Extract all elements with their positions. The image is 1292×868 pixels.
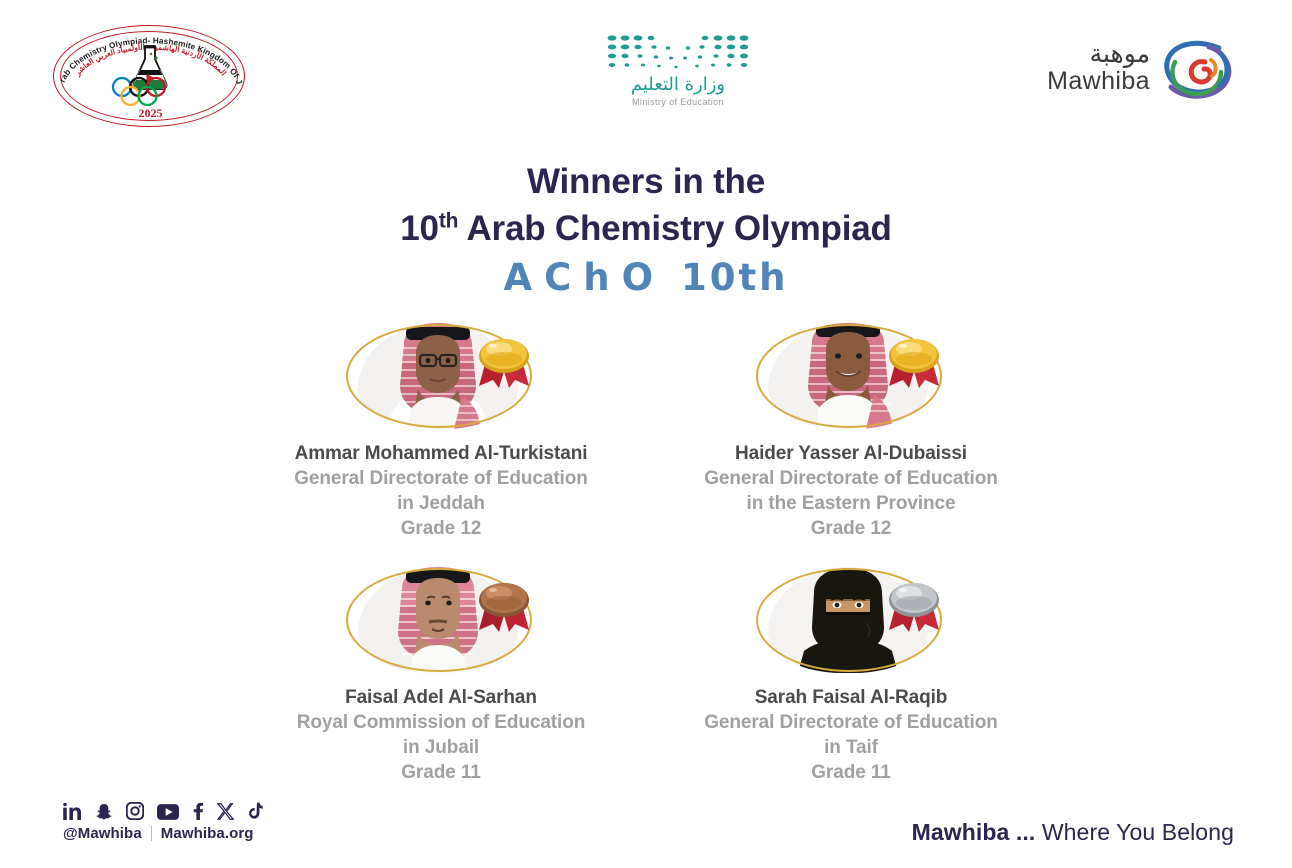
winner-grade: Grade 12 [236, 516, 646, 541]
title-line-1: Winners in the [0, 158, 1292, 205]
winner-grade: Grade 11 [646, 760, 1056, 785]
tagline-rest: Where You Belong [1035, 819, 1234, 845]
page-title: Winners in the 10th Arab Chemistry Olymp… [0, 158, 1292, 299]
olympic-rings-icon [108, 76, 194, 106]
subtitle-acho-right: 10th [681, 256, 789, 299]
mawhiba-handle[interactable]: @Mawhiba [63, 825, 142, 842]
mawhiba-swirl-icon [1159, 38, 1237, 104]
winners-row-2: Faisal Adel Al-Sarhan Royal Commission o… [236, 566, 1056, 785]
winner-name: Ammar Mohammed Al-Turkistani [236, 441, 646, 466]
gold-medal [883, 330, 945, 394]
tiktok-icon[interactable] [247, 802, 263, 820]
winners-grid: Ammar Mohammed Al-Turkistani General Dir… [236, 322, 1056, 785]
x-twitter-icon[interactable] [217, 803, 234, 820]
winner-photo-wrap [754, 322, 949, 430]
winners-row-1: Ammar Mohammed Al-Turkistani General Dir… [236, 322, 1056, 541]
gold-medal [473, 330, 535, 394]
moe-dot-pattern-icon [598, 32, 758, 74]
header-logos: 10th Arab Chemistry Olympiad- Hashemite … [0, 0, 1292, 150]
winner-org-line-2: in Jeddah [236, 491, 646, 516]
winner-name: Sarah Faisal Al-Raqib [646, 685, 1056, 710]
winner-name: Haider Yasser Al-Dubaissi [646, 441, 1056, 466]
winner-photo-wrap [344, 322, 539, 430]
mawhiba-english-name: Mawhiba [1022, 68, 1150, 95]
footer-tagline: Mawhiba ... Where You Belong [912, 819, 1234, 846]
footer-handle-row: @Mawhiba Mawhiba.org [63, 825, 343, 842]
winner-card: Ammar Mohammed Al-Turkistani General Dir… [236, 322, 646, 541]
winner-org-line-1: Royal Commission of Education [236, 710, 646, 735]
moe-arabic-name: وزارة التعليم [598, 76, 758, 94]
instagram-icon[interactable] [126, 802, 144, 820]
subtitle-acho-left: AChO [503, 256, 665, 299]
bronze-medal [473, 574, 535, 638]
winner-org-line-1: General Directorate of Education [646, 710, 1056, 735]
handle-separator [151, 826, 152, 841]
ministry-of-education-logo: وزارة التعليم Ministry of Education [598, 32, 758, 114]
winner-grade: Grade 11 [236, 760, 646, 785]
title-line-2-rest: Arab Chemistry Olympiad [458, 209, 891, 248]
snapchat-icon[interactable] [95, 803, 113, 820]
winner-photo-wrap [344, 566, 539, 674]
mawhiba-logo: موهبة Mawhiba [1022, 38, 1237, 110]
facebook-icon[interactable] [192, 802, 204, 820]
social-icons-row [63, 798, 343, 820]
winner-photo-wrap [754, 566, 949, 674]
jordan-logo-year: 2025 [48, 106, 253, 121]
winner-org-line-1: General Directorate of Education [646, 466, 1056, 491]
mawhiba-website[interactable]: Mawhiba.org [161, 825, 254, 842]
title-ordinal-suffix: th [439, 209, 458, 232]
winner-org-line-1: General Directorate of Education [236, 466, 646, 491]
winner-org-line-2: in Jubail [236, 735, 646, 760]
footer-social-block: @Mawhiba Mawhiba.org [63, 798, 343, 842]
winner-org-line-2: in Taif [646, 735, 1056, 760]
youtube-icon[interactable] [157, 804, 179, 820]
mawhiba-arabic-name: موهبة [1022, 40, 1150, 68]
winner-name: Faisal Adel Al-Sarhan [236, 685, 646, 710]
winner-card: Faisal Adel Al-Sarhan Royal Commission o… [236, 566, 646, 785]
title-line-2: 10th Arab Chemistry Olympiad [0, 205, 1292, 252]
linkedin-icon[interactable] [63, 803, 82, 820]
tagline-bold: Mawhiba ... [912, 819, 1036, 845]
title-ordinal-number: 10 [400, 209, 439, 248]
winner-grade: Grade 12 [646, 516, 1056, 541]
winner-card: Sarah Faisal Al-Raqib General Directorat… [646, 566, 1056, 785]
winner-org-line-2: in the Eastern Province [646, 491, 1056, 516]
winner-card: Haider Yasser Al-Dubaissi General Direct… [646, 322, 1056, 541]
jordan-olympiad-logo: 10th Arab Chemistry Olympiad- Hashemite … [48, 22, 253, 132]
mawhiba-wordmark: موهبة Mawhiba [1022, 40, 1150, 95]
silver-medal [883, 574, 945, 638]
moe-english-name: Ministry of Education [598, 97, 758, 107]
subtitle-acho: AChO 10th [0, 256, 1292, 299]
